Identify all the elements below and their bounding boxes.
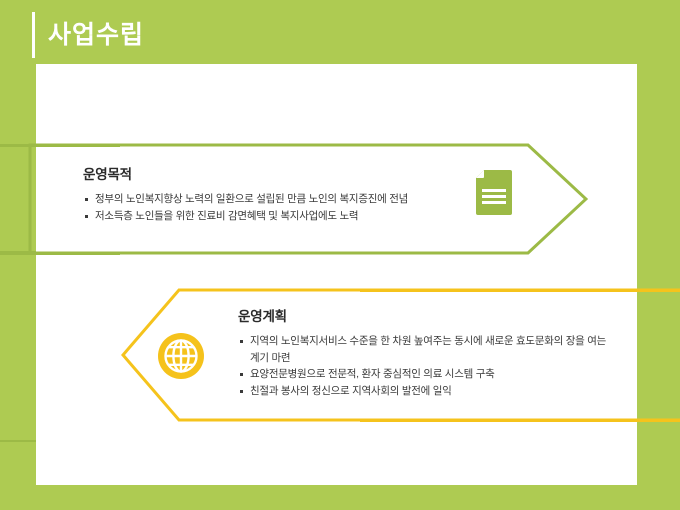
list-item: 정부의 노인복지향상 노력의 일환으로 설립된 만큼 노인의 복지증진에 전념 [83, 191, 463, 208]
left-band-divider-3 [0, 440, 36, 442]
document-icon [476, 170, 512, 215]
slide-canvas: 사업수립 운영목적 정부의 노인복지향상 노력의 일환으로 설립된 만큼 노인의… [0, 0, 680, 510]
list-item: 친절과 봉사의 정신으로 지역사회의 발전에 일익 [238, 383, 613, 400]
purpose-heading: 운영목적 [83, 163, 132, 183]
list-item: 요양전문병원으로 전문적, 환자 중심적인 의료 시스템 구축 [238, 366, 613, 383]
purpose-bullet-list: 정부의 노인복지향상 노력의 일환으로 설립된 만큼 노인의 복지증진에 전념 … [83, 191, 463, 224]
list-item: 저소득층 노인들을 위한 진료비 감면혜택 및 복지사업에도 노력 [83, 208, 463, 225]
title-accent-rule [32, 12, 35, 58]
plan-heading: 운영계획 [238, 305, 287, 325]
list-item: 지역의 노인복지서비스 수준을 한 차원 높여주는 동시에 새로운 효도문화의 … [238, 333, 613, 366]
globe-icon [158, 333, 204, 379]
plan-bullet-list: 지역의 노인복지서비스 수준을 한 차원 높여주는 동시에 새로운 효도문화의 … [238, 333, 613, 399]
page-title: 사업수립 [48, 22, 144, 50]
